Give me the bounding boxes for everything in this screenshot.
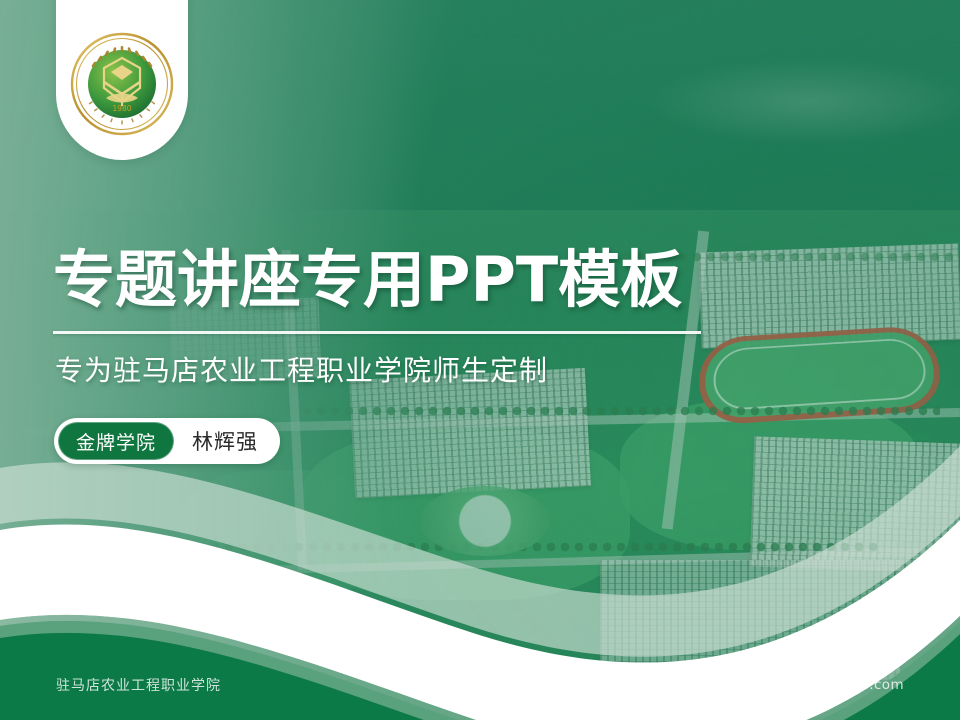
footer-institution: 驻马店农业工程职业学院	[56, 675, 221, 695]
badge-author-name: 林辉强	[192, 426, 258, 456]
university-crest: 1980	[70, 32, 174, 136]
badge-chip-label: 金牌学院	[58, 422, 174, 460]
crest-year: 1980	[112, 104, 131, 113]
slide-footer: 驻马店农业工程职业学院 www.pptgenius.com	[0, 656, 960, 720]
title-divider	[53, 331, 701, 334]
author-badge: 金牌学院 林辉强	[54, 418, 280, 464]
page-subtitle: 专为驻马店农业工程职业学院师生定制	[55, 352, 548, 390]
university-crest-icon: 1980	[70, 32, 174, 136]
presentation-slide: 1980 专题讲座专用PPT模板 专为驻马店农业工程职业学院师生定制 金牌学院 …	[0, 0, 960, 720]
logo-tab: 1980	[56, 0, 188, 160]
page-title: 专题讲座专用PPT模板	[53, 243, 682, 317]
footer-website[interactable]: www.pptgenius.com	[761, 677, 904, 693]
